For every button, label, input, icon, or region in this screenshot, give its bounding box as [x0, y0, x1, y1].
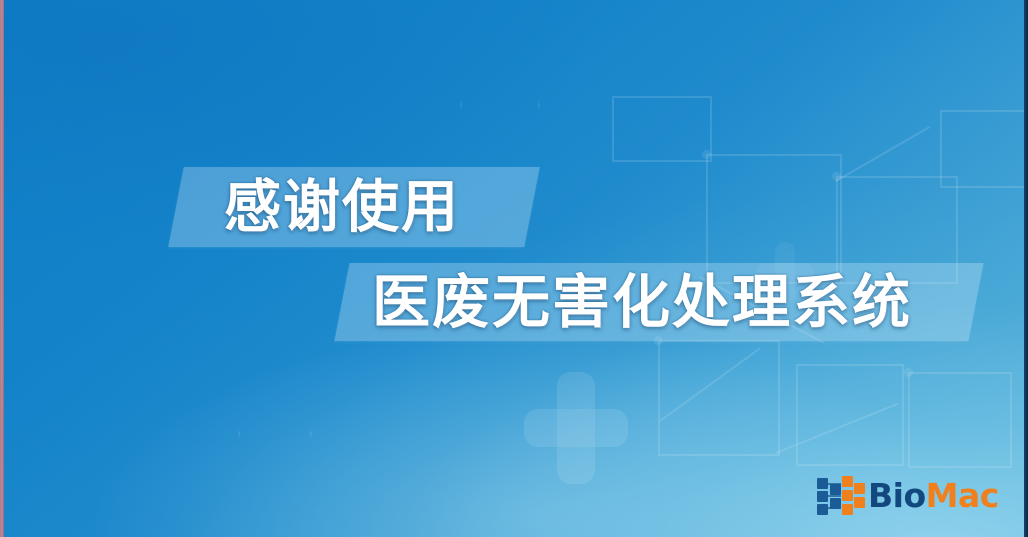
biomac-word-mac: Mac: [926, 476, 999, 515]
slide-canvas: 感谢使用 医废无害化处理系统 BioMac: [0, 0, 1028, 537]
logo-square-orange-5: [854, 497, 865, 508]
right-edge-strip: [1024, 0, 1028, 537]
title-line1: 感谢使用: [224, 176, 460, 238]
watermark-rect-7: [940, 110, 1028, 188]
biomac-logo: BioMac: [816, 470, 1028, 522]
logo-square-blue-4: [830, 484, 841, 495]
medical-cross-watermark: [524, 372, 628, 484]
watermark-rect-4: [796, 364, 904, 466]
logo-square-orange-4: [854, 483, 865, 494]
logo-square-blue-2: [817, 491, 828, 502]
logo-connector-2: [827, 495, 841, 497]
biomac-wordmark: BioMac: [868, 476, 999, 516]
biomac-word-bio: Bio: [868, 476, 926, 515]
watermark-node-2: [832, 172, 841, 181]
watermark-node-4: [904, 368, 913, 377]
logo-square-orange-1: [842, 476, 853, 487]
logo-square-blue-3: [817, 504, 828, 515]
logo-square-blue-5: [830, 498, 841, 509]
left-edge-strip: [0, 0, 4, 537]
logo-square-orange-3: [842, 504, 853, 515]
watermark-rect-5: [908, 372, 1012, 468]
logo-square-orange-2: [842, 490, 853, 501]
biomac-squares-mark-icon: [816, 474, 864, 518]
watermark-node-1: [702, 150, 711, 159]
cross-horizontal-bar: [524, 409, 628, 447]
logo-square-blue-1: [817, 478, 828, 489]
watermark-rect-3: [658, 340, 780, 456]
title-line2: 医废无害化处理系统: [372, 271, 912, 333]
watermark-rect-6: [612, 96, 712, 162]
